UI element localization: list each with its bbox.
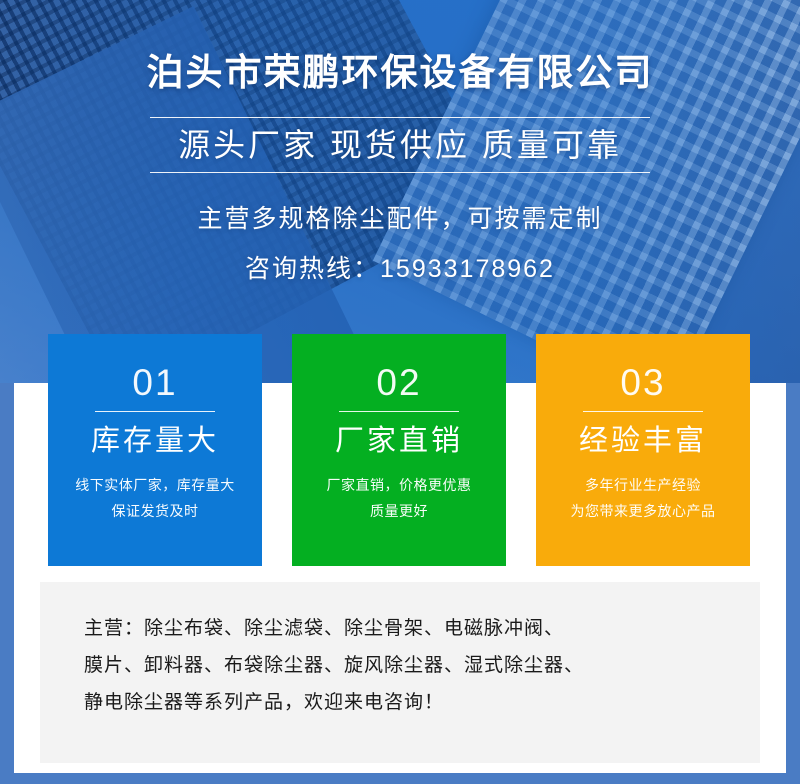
card-description: 线下实体厂家，库存量大 保证发货及时 (48, 472, 262, 525)
frame-border-right (786, 383, 800, 784)
product-list-panel: 主营：除尘布袋、除尘滤袋、除尘骨架、电磁脉冲阀、 膜片、卸料器、布袋除尘器、旋风… (40, 582, 760, 763)
card-description-line-2: 质量更好 (292, 498, 506, 525)
frame-border-left (0, 383, 14, 784)
product-list-line-1: 主营：除尘布袋、除尘滤袋、除尘骨架、电磁脉冲阀、 (84, 610, 716, 647)
product-list-line-2: 膜片、卸料器、布袋除尘器、旋风除尘器、湿式除尘器、 (84, 647, 716, 684)
promo-poster: 泊头市荣鹏环保设备有限公司 源头厂家 现货供应 质量可靠 主营多规格除尘配件，可… (0, 0, 800, 784)
company-name: 泊头市荣鹏环保设备有限公司 (0, 52, 800, 95)
feature-card-02: 02 厂家直销 厂家直销，价格更优惠 质量更好 (292, 334, 506, 566)
card-description-line-1: 多年行业生产经验 (536, 472, 750, 499)
card-divider (583, 411, 703, 412)
card-title: 经验丰富 (536, 426, 750, 458)
business-line: 主营多规格除尘配件，可按需定制 (0, 199, 800, 235)
feature-card-03: 03 经验丰富 多年行业生产经验 为您带来更多放心产品 (536, 334, 750, 566)
feature-card-01: 01 库存量大 线下实体厂家，库存量大 保证发货及时 (48, 334, 262, 566)
card-description: 厂家直销，价格更优惠 质量更好 (292, 472, 506, 525)
card-description-line-2: 为您带来更多放心产品 (536, 498, 750, 525)
slogan-rule-box: 源头厂家 现货供应 质量可靠 (150, 117, 650, 173)
card-description-line-1: 厂家直销，价格更优惠 (292, 472, 506, 499)
hotline: 咨询热线：15933178962 (0, 249, 800, 285)
header-text-block: 泊头市荣鹏环保设备有限公司 源头厂家 现货供应 质量可靠 主营多规格除尘配件，可… (0, 0, 800, 285)
card-divider (95, 411, 215, 412)
slogan: 源头厂家 现货供应 质量可靠 (150, 128, 650, 163)
card-divider (339, 411, 459, 412)
product-list-line-3: 静电除尘器等系列产品，欢迎来电咨询！ (84, 684, 716, 721)
card-description-line-2: 保证发货及时 (48, 498, 262, 525)
feature-card-row: 01 库存量大 线下实体厂家，库存量大 保证发货及时 02 厂家直销 厂家直销，… (0, 334, 800, 566)
card-title: 库存量大 (48, 426, 262, 458)
frame-border-bottom (0, 773, 800, 784)
card-title: 厂家直销 (292, 426, 506, 458)
card-number: 01 (48, 364, 262, 401)
card-description-line-1: 线下实体厂家，库存量大 (48, 472, 262, 499)
card-number: 02 (292, 364, 506, 401)
card-description: 多年行业生产经验 为您带来更多放心产品 (536, 472, 750, 525)
card-number: 03 (536, 364, 750, 401)
